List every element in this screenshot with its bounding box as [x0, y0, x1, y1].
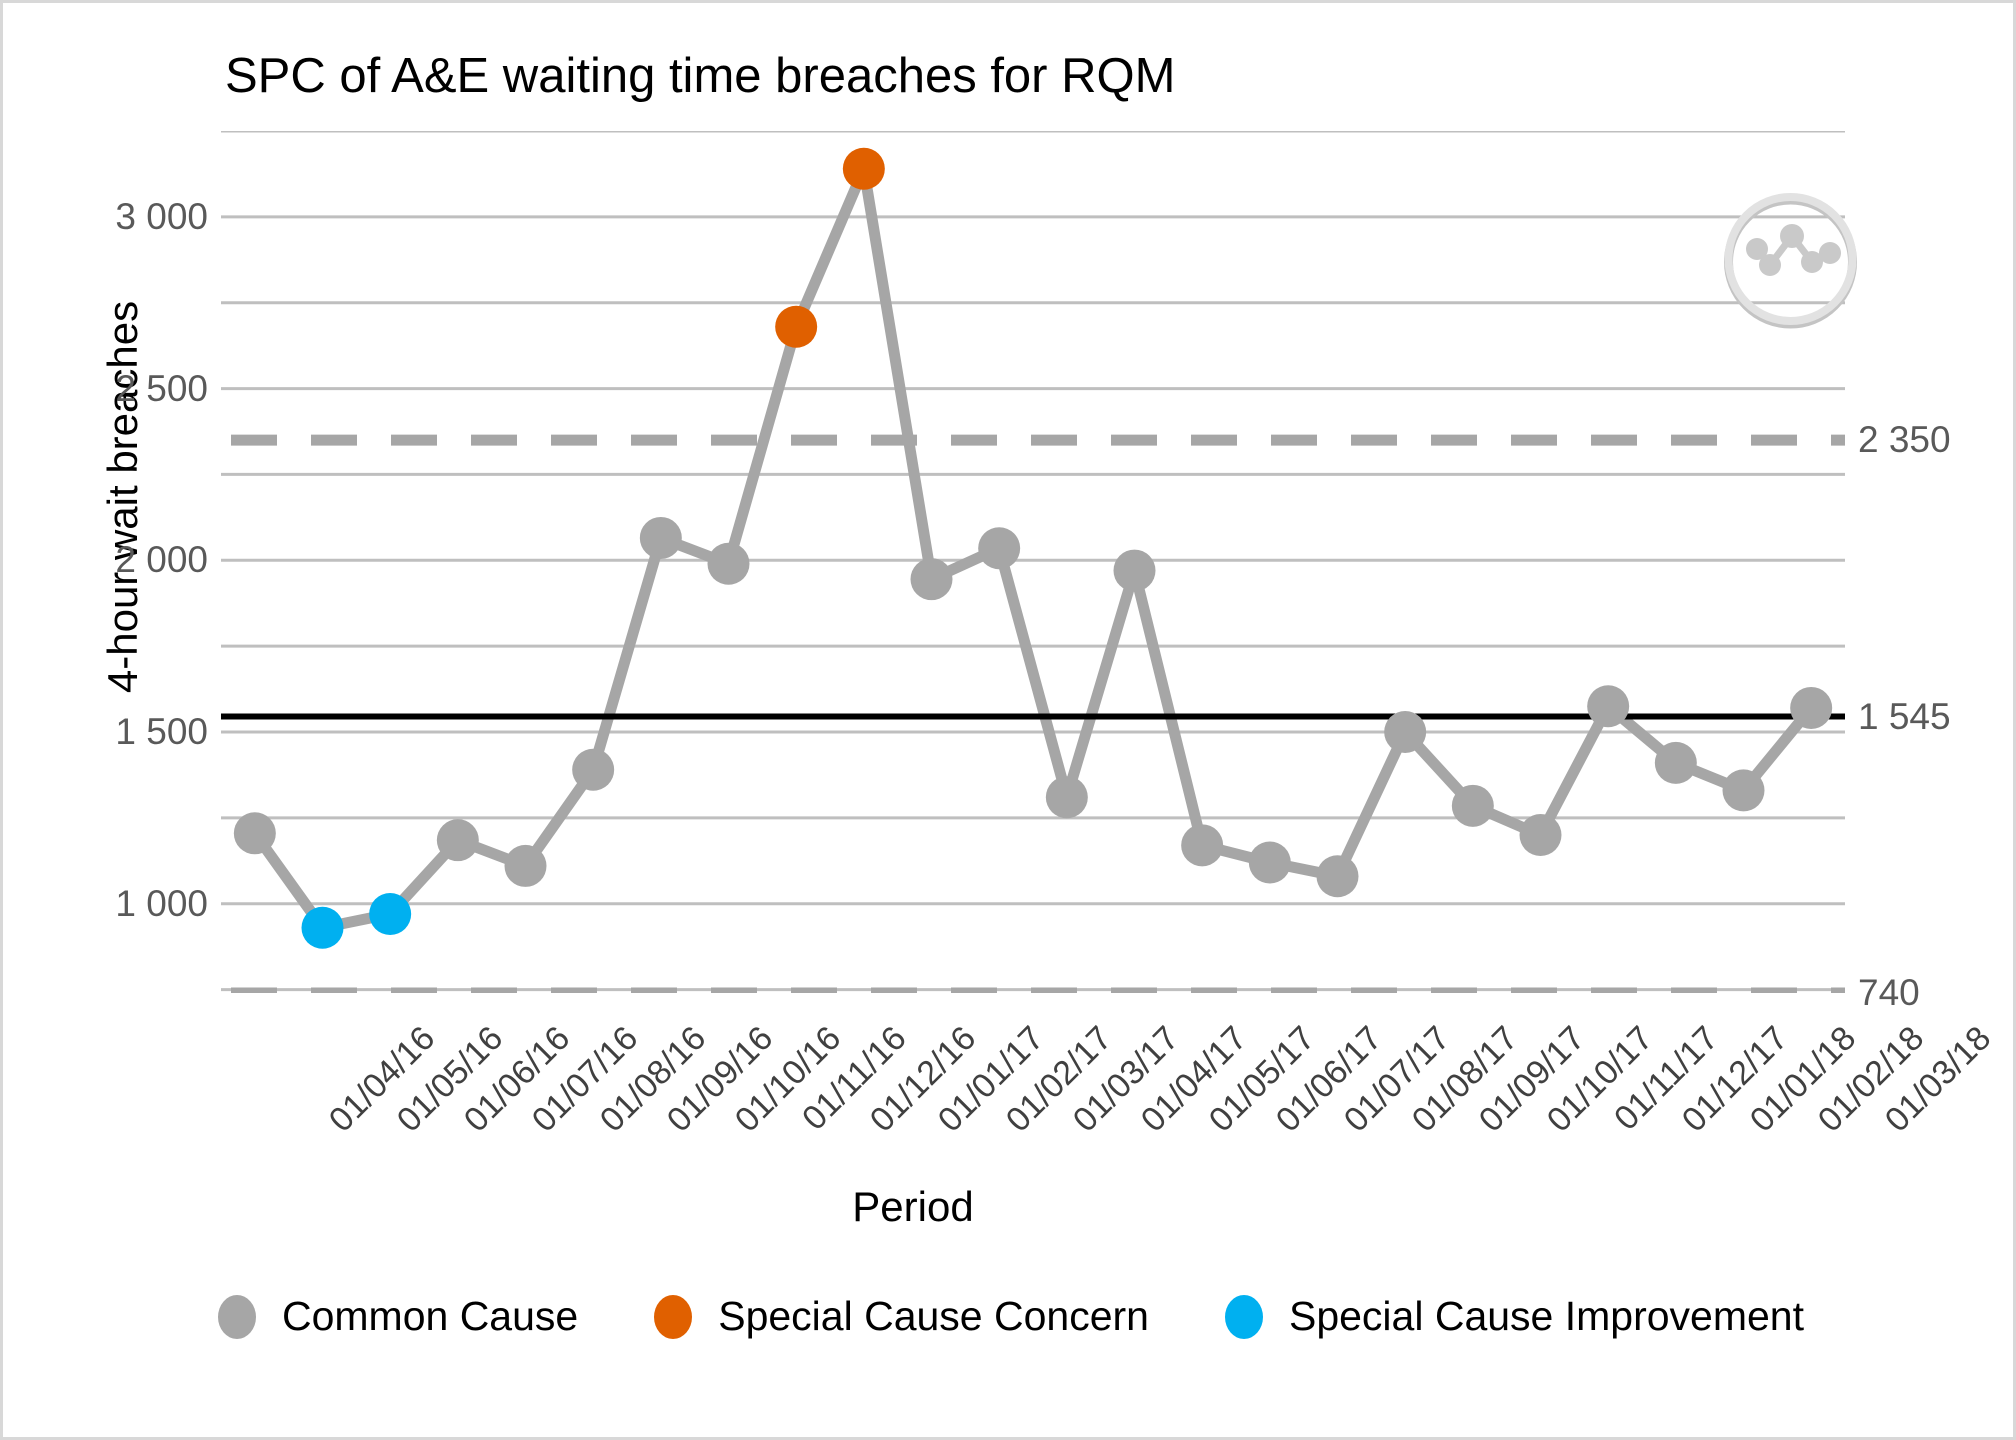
legend-item[interactable]: Special Cause Improvement: [1225, 1293, 1804, 1340]
legend-item[interactable]: Common Cause: [218, 1293, 578, 1340]
special-cause-improvement-marker-icon: [1225, 1295, 1263, 1339]
legend-item-label: Special Cause Improvement: [1289, 1293, 1804, 1340]
chart-legend: Common CauseSpecial Cause ConcernSpecial…: [3, 1293, 2016, 1340]
common-cause-marker-icon: [218, 1295, 256, 1339]
legend-item-label: Common Cause: [282, 1293, 578, 1340]
legend-item[interactable]: Special Cause Concern: [654, 1293, 1149, 1340]
run-chart-icon: [1713, 183, 1868, 338]
legend-item-label: Special Cause Concern: [718, 1293, 1149, 1340]
special-cause-concern-marker-icon: [654, 1295, 692, 1339]
spc-chart-page: SPC of A&E waiting time breaches for RQM…: [0, 0, 2016, 1440]
x-axis-title: Period: [3, 1183, 1823, 1231]
